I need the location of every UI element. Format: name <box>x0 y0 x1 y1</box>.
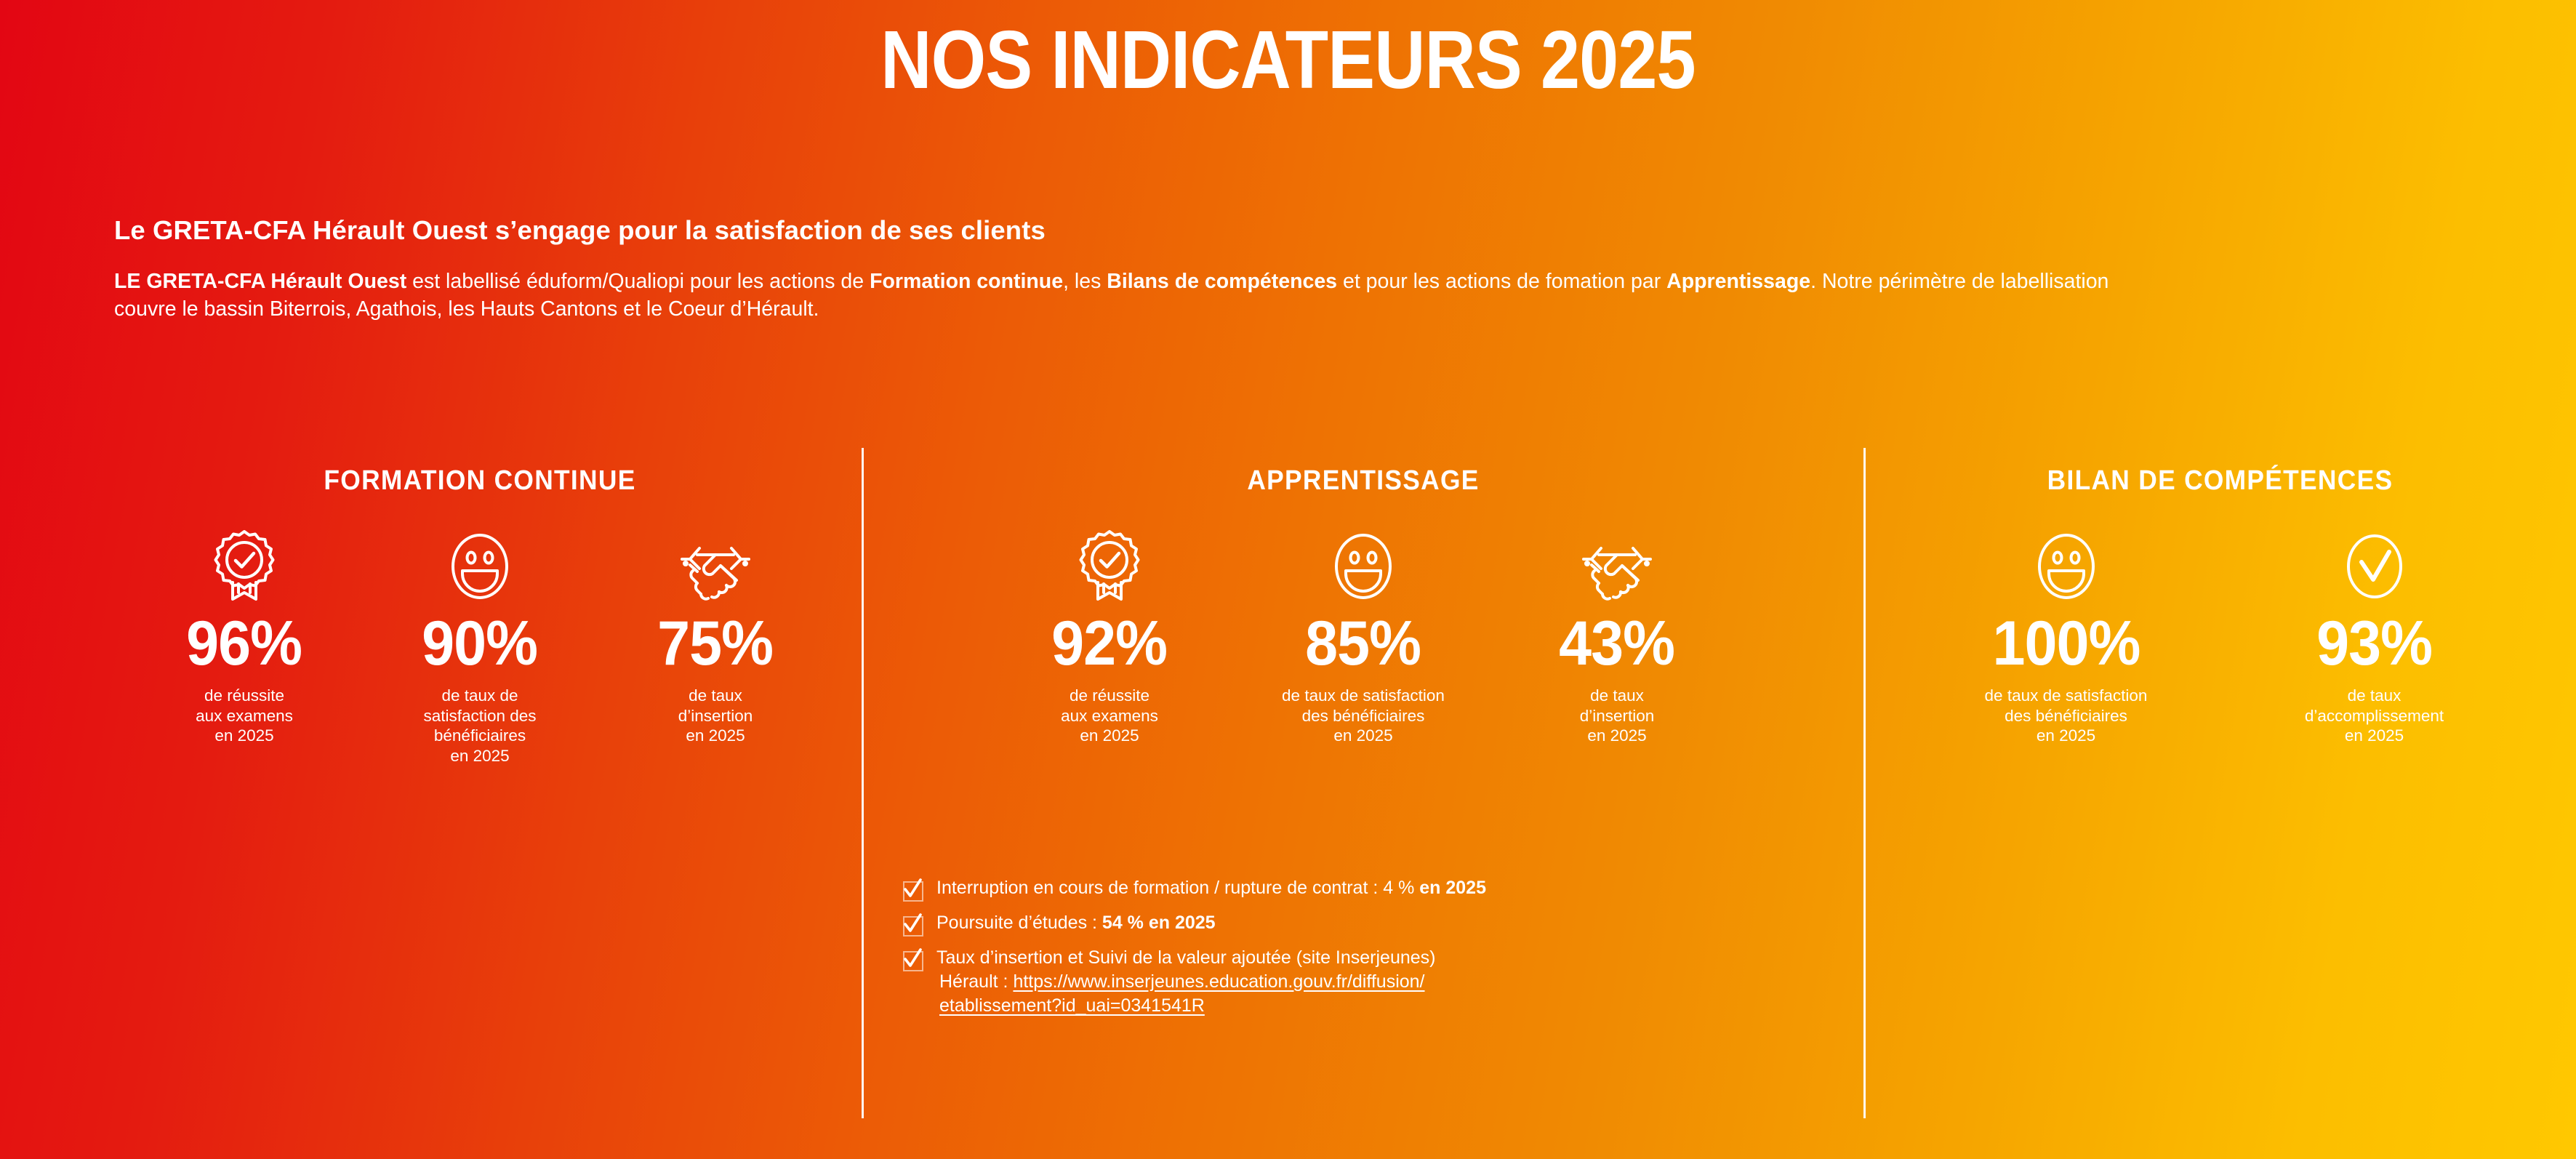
checkbox-checked-icon <box>902 879 923 901</box>
list-item-text: Poursuite d’études : 54 % en 2025 <box>936 911 1216 935</box>
column-formation-continue: FORMATION CONTINUE 96% de réussite aux e… <box>116 465 843 766</box>
checkbox-checked-icon <box>902 914 923 936</box>
list-item: Poursuite d’études : 54 % en 2025 <box>902 911 1810 936</box>
list-item: Interruption en cours de formation / rup… <box>902 876 1810 901</box>
stat-caption: de réussite aux examens en 2025 <box>1061 686 1158 747</box>
column-title-apprentissage: APPRENTISSAGE <box>907 465 1820 497</box>
award-badge-icon <box>1076 532 1143 601</box>
stat-caption: de taux de satisfaction des bénéficiaire… <box>1985 686 2148 747</box>
intro-paragraph: LE GRETA-CFA Hérault Ouest est labellisé… <box>114 268 2121 324</box>
link-prefix-label: Hérault : <box>939 971 1013 992</box>
stat-caption: de taux de satisfaction des bénéficiaire… <box>423 686 536 767</box>
stat-caption: de taux d’accomplissement en 2025 <box>2305 686 2444 747</box>
stat-card: 96% de réussite aux examens en 2025 <box>163 532 326 746</box>
stat-value: 93% <box>2316 614 2432 674</box>
smiley-face-icon <box>1333 532 1394 601</box>
award-badge-icon <box>211 532 278 601</box>
stats-row-apprentissage: 92% de réussite aux examens en 2025 85% … <box>872 532 1854 746</box>
stat-caption: de taux de satisfaction des bénéficiaire… <box>1282 686 1445 747</box>
page-title: NOS INDICATEURS 2025 <box>180 19 2396 101</box>
stat-value: 90% <box>422 614 537 674</box>
intro-block: Le GRETA-CFA Hérault Ouest s’engage pour… <box>114 216 2164 324</box>
stat-value: 92% <box>1051 614 1167 674</box>
smiley-face-icon <box>449 532 510 601</box>
stat-card: 92% de réussite aux examens en 2025 <box>1022 532 1197 746</box>
poster-canvas: NOS INDICATEURS 2025 Le GRETA-CFA Héraul… <box>0 0 2576 1159</box>
smiley-face-icon <box>2036 532 2097 601</box>
stat-card: 100% de taux de satisfaction des bénéfic… <box>1943 532 2190 746</box>
handshake-icon <box>675 532 755 601</box>
inserjeunes-link[interactable]: https://www.inserjeunes.education.gouv.f… <box>1013 970 1424 994</box>
link-line-2: etablissement?id_uai=0341541R <box>936 994 1436 1018</box>
checkbox-checked-icon <box>902 949 923 971</box>
stat-value: 96% <box>186 614 302 674</box>
list-item-text: Taux d’insertion et Suivi de la valeur a… <box>936 946 1436 1018</box>
stat-card: 75% de taux d’insertion en 2025 <box>634 532 797 746</box>
stats-row-formation-continue: 96% de réussite aux examens en 2025 90% … <box>116 532 843 766</box>
list-item: Taux d’insertion et Suivi de la valeur a… <box>902 946 1810 1018</box>
column-divider-left <box>862 448 864 1118</box>
apprentissage-checklist: Interruption en cours de formation / rup… <box>902 876 1810 1028</box>
stat-card: 43% de taux d’insertion en 2025 <box>1530 532 1704 746</box>
link-line-1: Hérault : https://www.inserjeunes.educat… <box>936 970 1436 994</box>
column-title-bilan-de-competences: BILAN DE COMPÉTENCES <box>1897 465 2543 497</box>
stat-card: 85% de taux de satisfaction des bénéfici… <box>1243 532 1483 746</box>
column-bilan-de-competences: BILAN DE COMPÉTENCES 100% de taux de sat… <box>1873 465 2567 746</box>
stat-caption: de taux d’insertion en 2025 <box>678 686 753 747</box>
stat-value: 43% <box>1559 614 1674 674</box>
stat-caption: de taux d’insertion en 2025 <box>1580 686 1655 747</box>
intro-headline: Le GRETA-CFA Hérault Ouest s’engage pour… <box>114 216 2164 245</box>
column-title-formation-continue: FORMATION CONTINUE <box>142 465 818 497</box>
column-apprentissage: APPRENTISSAGE 92% de réussite aux examen… <box>872 465 1854 746</box>
list-item-text: Interruption en cours de formation / rup… <box>936 876 1486 900</box>
stat-value: 75% <box>657 614 773 674</box>
stat-value: 85% <box>1305 614 1421 674</box>
check-circle-icon <box>2344 532 2405 601</box>
column-divider-right <box>1863 448 1866 1118</box>
stat-card: 90% de taux de satisfaction des bénéfici… <box>398 532 561 766</box>
stat-caption: de réussite aux examens en 2025 <box>196 686 293 747</box>
stat-card: 93% de taux d’accomplissement en 2025 <box>2251 532 2498 746</box>
stat-value: 100% <box>1992 614 2140 674</box>
handshake-icon <box>1577 532 1657 601</box>
stats-row-bilan-de-competences: 100% de taux de satisfaction des bénéfic… <box>1873 532 2567 746</box>
inserjeunes-link-continued[interactable]: etablissement?id_uai=0341541R <box>939 994 1205 1018</box>
list-item-title: Taux d’insertion et Suivi de la valeur a… <box>936 947 1436 968</box>
